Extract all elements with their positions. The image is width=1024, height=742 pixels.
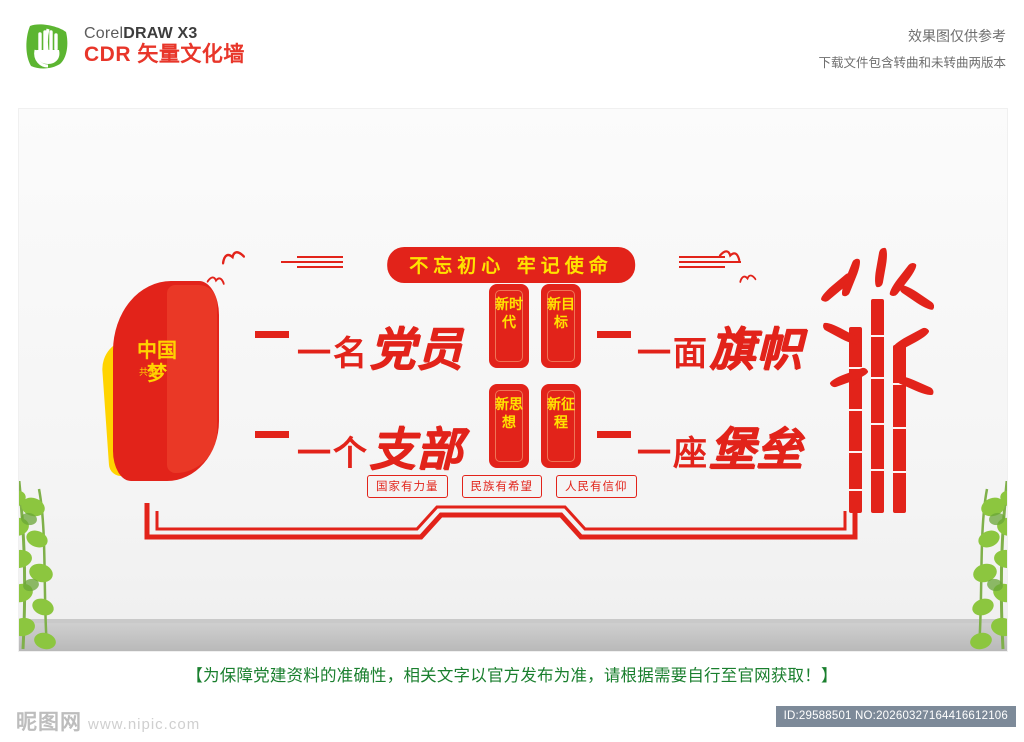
- bird-icon: [738, 270, 757, 288]
- slogan-left-brush: 支部: [369, 422, 463, 476]
- header-notice: 效果图仅供参考 下载文件包含转曲和未转曲两版本: [818, 26, 1006, 71]
- notice-secondary: 下载文件包含转曲和未转曲两版本: [818, 52, 1006, 71]
- badge: 人民有信仰: [556, 475, 637, 498]
- slogan-right-brush: 堡垒: [709, 422, 803, 476]
- slogan-right-brush: 旗帜: [709, 322, 803, 376]
- dash-icon: [597, 331, 631, 338]
- slogan-left-plain: 一名: [297, 334, 369, 374]
- brand-prefix: Corel: [84, 25, 123, 42]
- bamboo-stalk: [849, 327, 862, 513]
- badge: 民族有希望: [462, 475, 543, 498]
- notice-primary: 效果图仅供参考: [818, 26, 1006, 46]
- slogan-right: 一面旗帜: [637, 313, 803, 379]
- bottom-badges: 国家有力量 民族有希望 人民有信仰: [367, 475, 637, 498]
- brand-title-line: CDR 矢量文化墙: [84, 43, 245, 67]
- floor-strip: [19, 623, 1007, 651]
- brand-cn: 矢量文化墙: [137, 43, 245, 66]
- china-dream-flag-icon: 中国梦 共筑: [99, 281, 231, 501]
- watermark-url: www.nipic.com: [88, 716, 200, 733]
- preview-stage: 不忘初心 牢记使命 中国梦 共筑 一名党员: [18, 108, 1008, 652]
- slogan-left-plain: 一个: [297, 434, 369, 474]
- slogan-left: 一名党员: [297, 313, 463, 379]
- brand-logo: CorelDRAW X3 CDR 矢量文化墙: [22, 20, 245, 72]
- slogan-left: 一个支部: [297, 413, 463, 479]
- bamboo-leaf: [898, 283, 936, 313]
- bottom-frame: [141, 497, 861, 543]
- dash-icon: [255, 431, 289, 438]
- bamboo-icon: [825, 277, 945, 513]
- tablet: 新思想: [489, 384, 529, 468]
- banner-lines-left-icon: [273, 256, 343, 272]
- center-tablets: 新时代 新目标 新思想 新征程: [489, 284, 589, 504]
- bird-icon: [219, 248, 246, 270]
- dash-icon: [255, 331, 289, 338]
- tablet: 新时代: [489, 284, 529, 368]
- page-header: CorelDRAW X3 CDR 矢量文化墙 效果图仅供参考 下载文件包含转曲和…: [0, 0, 1024, 92]
- brand-product-line: CorelDRAW X3: [84, 25, 245, 43]
- watermark: 昵图网 www.nipic.com: [16, 706, 200, 736]
- brand-suffix: DRAW X3: [123, 25, 197, 42]
- brand-cdr: CDR: [84, 43, 131, 66]
- bamboo-stalk: [871, 299, 884, 513]
- banner-pill: 不忘初心 牢记使命: [387, 247, 635, 283]
- asset-id-badge: ID:29588501 NO:20260327164416612106: [776, 706, 1016, 727]
- culture-wall-artwork: 不忘初心 牢记使命 中国梦 共筑 一名党员: [99, 229, 929, 549]
- hand-leaf-logo-icon: [22, 20, 74, 72]
- tablet: 新征程: [541, 384, 581, 468]
- dash-icon: [597, 431, 631, 438]
- page-footer: 昵图网 www.nipic.com ID:29588501 NO:2026032…: [0, 700, 1024, 742]
- bamboo-leaf: [891, 326, 931, 353]
- disclaimer-note: 【为保障党建资料的准确性，相关文字以官方发布为准，请根据需要自行至官网获取！】: [0, 662, 1024, 686]
- slogan-right-plain: 一座: [637, 434, 709, 474]
- badge: 国家有力量: [367, 475, 448, 498]
- slogan-left-brush: 党员: [369, 322, 463, 376]
- slogan-right: 一座堡垒: [637, 413, 803, 479]
- flag-subtitle: 共筑: [139, 365, 157, 378]
- brand-text: CorelDRAW X3 CDR 矢量文化墙: [84, 25, 245, 68]
- watermark-name: 昵图网: [16, 706, 82, 736]
- bamboo-stalk: [893, 345, 906, 513]
- bamboo-leaf: [873, 247, 889, 288]
- tablet: 新目标: [541, 284, 581, 368]
- slogan-right-plain: 一面: [637, 334, 709, 374]
- flag-title: 中国梦: [135, 339, 179, 385]
- top-banner: 不忘初心 牢记使命: [321, 247, 701, 281]
- banner-text: 不忘初心 牢记使命: [409, 255, 613, 277]
